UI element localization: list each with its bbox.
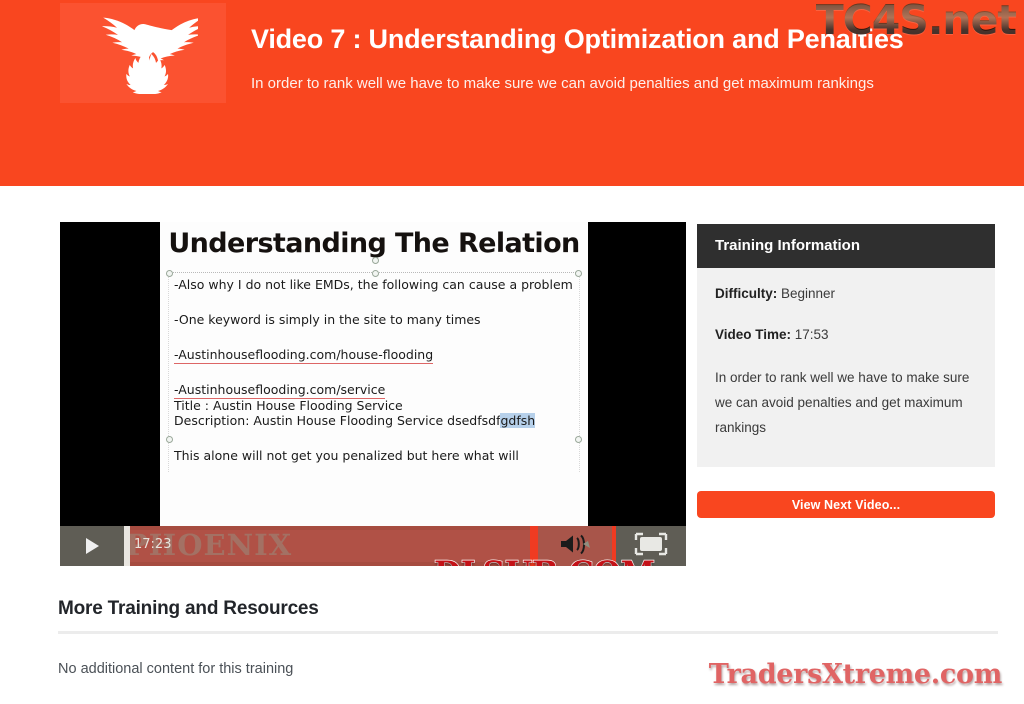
panel-heading: Training Information: [697, 224, 995, 268]
page-header: Video 7 : Understanding Optimization and…: [0, 0, 1024, 186]
slide-line-2: -One keyword is simply in the site to ma…: [174, 313, 574, 326]
view-next-video-button[interactable]: View Next Video...: [697, 491, 995, 518]
brand-logo: [60, 3, 226, 103]
difficulty-label: Difficulty:: [715, 286, 777, 301]
slide-line-1: -Also why I do not like EMDs, the follow…: [174, 278, 574, 291]
slide-line-6-strike: dsedfsdf: [447, 413, 500, 428]
current-time-label: 17:23: [134, 537, 171, 552]
slide-line-4-text: -Austinhouseflooding.com/service: [174, 382, 385, 399]
slide-line-7: This alone will not get you penalized bu…: [174, 449, 574, 462]
video-slide: Understanding The Relation -Also why I d…: [160, 222, 588, 534]
difficulty-value: Beginner: [777, 286, 835, 301]
difficulty-row: Difficulty: Beginner: [715, 284, 977, 305]
slide-line-3-text: -Austinhouseflooding.com/house-flooding: [174, 347, 433, 364]
rotate-handle-icon: [372, 257, 379, 264]
phoenix-icon: [88, 12, 198, 94]
slide-line-3: -Austinhouseflooding.com/house-flooding: [174, 348, 574, 361]
handle-top-center-icon: [372, 270, 379, 277]
training-information-panel: Training Information Difficulty: Beginne…: [697, 224, 995, 467]
page-subtitle: In order to rank well we have to make su…: [251, 72, 966, 96]
panel-description: In order to rank well we have to make su…: [715, 366, 977, 441]
slide-line-6-highlight: gdfsh: [500, 413, 535, 428]
play-button[interactable]: [60, 526, 124, 566]
slide-line-5: Title : Austin House Flooding Service: [174, 399, 574, 412]
more-training-title: More Training and Resources: [58, 598, 998, 620]
handle-top-right-icon: [575, 270, 582, 277]
handle-top-left-icon: [166, 270, 173, 277]
video-time-value: 17:53: [791, 327, 829, 342]
video-player[interactable]: Understanding The Relation -Also why I d…: [60, 222, 686, 566]
handle-mid-right-icon: [575, 436, 582, 443]
watermark-dlsub: DLSUB.COM: [434, 555, 655, 566]
play-icon: [86, 538, 99, 554]
video-time-row: Video Time: 17:53: [715, 325, 977, 346]
slide-line-4: -Austinhouseflooding.com/service: [174, 383, 574, 396]
slide-line-6: Description: Austin House Flooding Servi…: [174, 414, 574, 427]
watermark-tradersxtreme: TradersXtreme.com: [709, 659, 1002, 690]
progress-start-marker: [124, 526, 130, 566]
slide-body-text: -Also why I do not like EMDs, the follow…: [174, 278, 574, 484]
panel-body: Difficulty: Beginner Video Time: 17:53 I…: [697, 268, 995, 467]
video-time-label: Video Time:: [715, 327, 791, 342]
watermark-tc4s: TC4S.net: [816, 0, 1016, 44]
slide-line-6-text: Description: Austin House Flooding Servi…: [174, 413, 447, 428]
slide-title: Understanding The Relation: [160, 228, 588, 259]
handle-mid-left-icon: [166, 436, 173, 443]
section-divider: [58, 631, 998, 634]
